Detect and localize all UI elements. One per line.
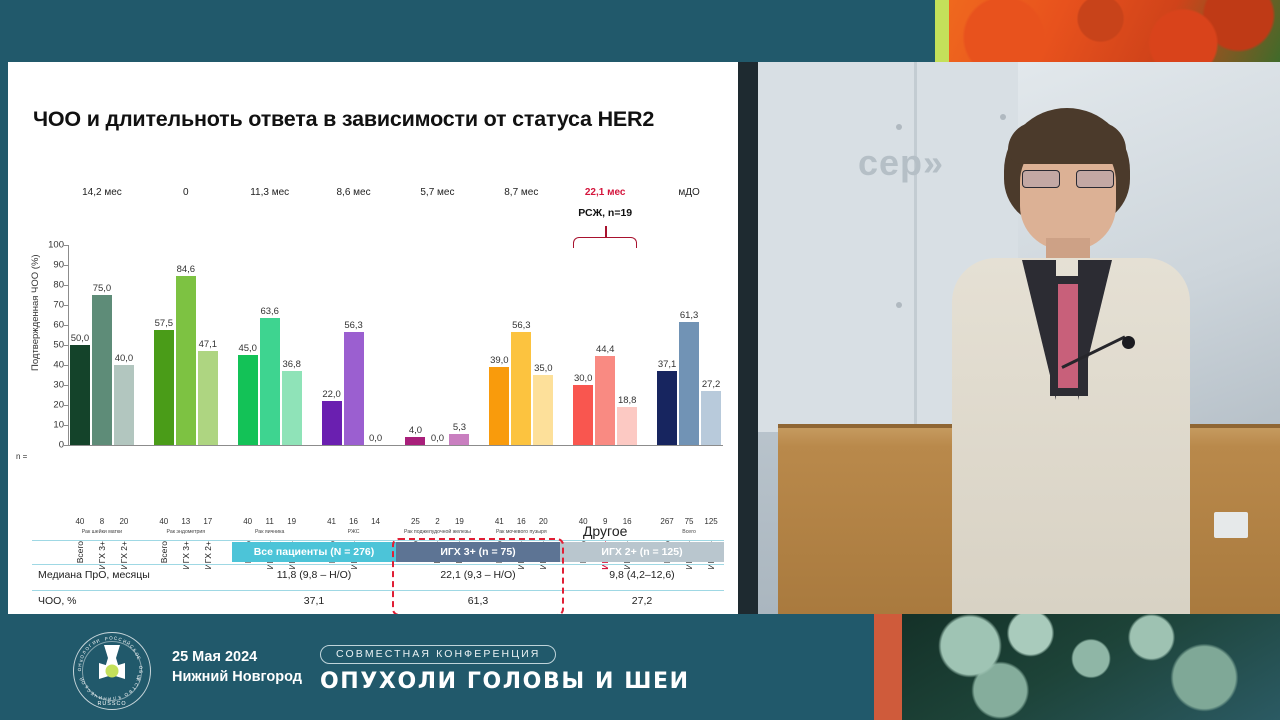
sample-size-value: 20 <box>533 517 553 526</box>
event-city: Нижний Новгород <box>172 668 302 688</box>
sample-size-value: 16 <box>617 517 637 526</box>
chart-group-header: 5,7 мес <box>404 187 472 198</box>
chart-bar: 4,0 <box>405 437 425 445</box>
wall-dark-edge <box>738 62 758 614</box>
screenshot-stage: ЧОО и длительноть ответа в зависимости о… <box>0 0 1280 720</box>
table-column-header[interactable]: ИГХ 2+ (n = 125) <box>560 542 724 562</box>
chart-bar: 47,1 <box>198 351 218 445</box>
bar-value-label: 18,8 <box>618 395 637 406</box>
bar-value-label: 57,5 <box>155 318 174 329</box>
bar-value-label: 39,0 <box>490 355 509 366</box>
sample-size-value: 125 <box>701 517 721 526</box>
y-tick-mark <box>64 325 68 326</box>
speaker-video: сер» <box>738 62 1280 614</box>
chart-group-header: 8,7 мес <box>487 187 555 198</box>
table-cell: 11,8 (9,8 – Н/О) <box>232 569 396 581</box>
y-tick-mark <box>64 405 68 406</box>
sample-size-value: 40 <box>573 517 593 526</box>
bar-value-label: 61,3 <box>680 310 699 321</box>
sample-size-value: 267 <box>657 517 677 526</box>
table-cell: 27,2 <box>560 595 724 607</box>
sample-size-value: 11 <box>260 517 280 526</box>
bar-value-label: 5,3 <box>453 422 466 433</box>
table-cell: 37,1 <box>232 595 396 607</box>
logo-ring-char: Р <box>105 635 109 640</box>
bar-value-label: 44,4 <box>596 344 615 355</box>
y-tick-label: 30 <box>53 380 64 391</box>
chart-bar: 57,5 <box>154 330 174 445</box>
chart-bar: 18,8 <box>617 407 637 445</box>
n-row-label: n = <box>16 452 27 461</box>
y-tick-label: 100 <box>48 240 64 251</box>
bar-value-label: 50,0 <box>71 333 90 344</box>
highlight-box <box>392 538 564 614</box>
event-date: 25 Мая 2024 <box>172 648 302 668</box>
sample-size-value: 40 <box>70 517 90 526</box>
bar-value-label: 84,6 <box>177 264 196 275</box>
tumor-type-label: Всего <box>649 529 729 536</box>
speaker-lapel-right <box>1078 260 1112 400</box>
y-tick-mark <box>64 305 68 306</box>
sample-size-value: 75 <box>679 517 699 526</box>
y-tick-label: 70 <box>53 300 64 311</box>
sample-size-value: 16 <box>344 517 364 526</box>
chart-bar: 37,1 <box>657 371 677 445</box>
table-row: Медиана ПрО, месяцы11,8 (9,8 – Н/О)22,1 … <box>32 565 724 590</box>
chart-bar: 63,6 <box>260 318 280 445</box>
chart-bar: 50,0 <box>70 345 90 445</box>
y-tick-mark <box>64 265 68 266</box>
tumor-type-label: Рак яичника <box>230 529 310 536</box>
y-tick-label: 40 <box>53 360 64 371</box>
chart-group-header: 8,6 мес <box>320 187 388 198</box>
conference-name: ОПУХОЛИ ГОЛОВЫ И ШЕИ <box>320 669 690 694</box>
microphone-icon <box>1122 336 1135 349</box>
page-title: ЧОО и длительноть ответа в зависимости о… <box>33 107 654 132</box>
annotation-brace-stem <box>605 226 607 237</box>
bar-value-label: 4,0 <box>409 425 422 436</box>
bar-value-label: 35,0 <box>534 363 553 374</box>
top-band <box>0 0 1280 62</box>
bar-value-label: 30,0 <box>574 373 593 384</box>
chart-group-header: 11,3 мес <box>236 187 304 198</box>
table-rule <box>32 540 724 541</box>
sample-size-value: 41 <box>489 517 509 526</box>
bar-value-label: 75,0 <box>93 283 112 294</box>
bar-value-label: 56,3 <box>344 320 363 331</box>
russco-logo: РОССИЙСКОЕ ОБЩЕСТВО КЛИНИЧЕСКОЙ ОНКОЛОГИ… <box>73 632 151 710</box>
chart-bar: 35,0 <box>533 375 553 445</box>
y-tick-label: 50 <box>53 340 64 351</box>
sample-size-value: 40 <box>238 517 258 526</box>
logo-ring-char: Б <box>138 670 143 673</box>
chart-bar: 5,3 <box>449 434 469 445</box>
sample-size-value: 17 <box>198 517 218 526</box>
sample-size-value: 9 <box>595 517 615 526</box>
chart-bar: 30,0 <box>573 385 593 445</box>
y-tick-label: 20 <box>53 400 64 411</box>
chart-bar: 56,3 <box>344 332 364 445</box>
chart-bar: 75,0 <box>92 295 112 445</box>
chart-group-header: мДО <box>655 187 723 198</box>
y-tick-mark <box>64 445 68 446</box>
annotation-label: РСЖ, n=19 <box>555 207 655 219</box>
logo-ring-char: О <box>77 668 82 672</box>
top-decorative-photo <box>935 0 1280 62</box>
wall-seam <box>914 62 917 434</box>
sample-size-value: 8 <box>92 517 112 526</box>
chart-group-header: 14,2 мес <box>68 187 136 198</box>
table-row-label: ЧОО, % <box>38 595 77 607</box>
sample-size-value: 25 <box>405 517 425 526</box>
table-row-label: Медиана ПрО, месяцы <box>38 569 150 581</box>
tumor-type-label: Рак эндометрия <box>146 529 226 536</box>
sample-size-value: 13 <box>176 517 196 526</box>
sample-size-value: 19 <box>282 517 302 526</box>
wall-dot <box>896 302 902 308</box>
conference-title-block: СОВМЕСТНАЯ КОНФЕРЕНЦИЯ ОПУХОЛИ ГОЛОВЫ И … <box>320 644 690 694</box>
bar-value-label: 0,0 <box>431 433 444 444</box>
logo-ring-char: О <box>109 635 113 640</box>
tumor-type-label: Рак поджелудочной железы <box>398 529 478 536</box>
speaker-scarf <box>1058 284 1080 388</box>
annotation-brace <box>573 237 637 248</box>
logo-ring-char: К <box>117 695 121 701</box>
x-axis-line <box>68 445 723 446</box>
logo-ring-char: Н <box>77 663 82 667</box>
bottom-decorative-photo <box>902 614 1280 720</box>
sample-size-value: 40 <box>154 517 174 526</box>
y-tick-mark <box>64 285 68 286</box>
chart-bar: 36,8 <box>282 371 302 445</box>
bar-chart: Подтвержденная ЧОО (%) n = 0102030405060… <box>34 180 726 535</box>
x-category-label: Всего <box>75 541 85 563</box>
y-tick-mark <box>64 385 68 386</box>
wall-dot <box>896 124 902 130</box>
table-column-header[interactable]: Все пациенты (N = 276) <box>232 542 396 562</box>
speaker <box>946 108 1196 614</box>
sample-size-value: 14 <box>366 517 386 526</box>
sample-size-value: 41 <box>322 517 342 526</box>
chart-bar: 84,6 <box>176 276 196 445</box>
sample-size-value: 19 <box>449 517 469 526</box>
y-tick-label: 60 <box>53 320 64 331</box>
tumor-type-label: Рак мочевого пузыря <box>481 529 561 536</box>
glasses-icon <box>1022 170 1114 186</box>
wall-outlet <box>1214 512 1248 538</box>
y-tick-mark <box>64 365 68 366</box>
bar-value-label: 36,8 <box>282 359 301 370</box>
y-tick-mark <box>64 245 68 246</box>
bar-value-label: 22,0 <box>322 389 341 400</box>
plot-area: 010203040506070809010014,2 месРак шейки … <box>68 245 723 445</box>
logo-ring-char: О <box>138 665 143 669</box>
presentation-slide: ЧОО и длительноть ответа в зависимости о… <box>8 62 738 614</box>
chart-group-header: 22,1 мес <box>571 187 639 198</box>
logo-ring-char: И <box>95 638 100 644</box>
chart-bar: 39,0 <box>489 367 509 445</box>
logo-ring-char: Е <box>136 656 142 661</box>
bar-value-label: 37,1 <box>658 359 677 370</box>
bar-value-label: 63,6 <box>260 306 279 317</box>
bar-value-label: 27,2 <box>702 379 721 390</box>
y-axis-label: Подтвержденная ЧОО (%) <box>30 218 44 408</box>
tumor-type-label: Рак шейки матки <box>62 529 142 536</box>
table-row: ЧОО, %37,161,327,2 <box>32 591 724 614</box>
chart-group-header: 0 <box>152 187 220 198</box>
chart-bar: 22,0 <box>322 401 342 445</box>
chart-bar: 45,0 <box>238 355 258 445</box>
chart-bar: 44,4 <box>595 356 615 445</box>
chart-bar: 40,0 <box>114 365 134 445</box>
y-tick-label: 80 <box>53 280 64 291</box>
y-tick-mark <box>64 345 68 346</box>
bar-value-label: 56,3 <box>512 320 531 331</box>
y-tick-label: 90 <box>53 260 64 271</box>
wall-text: сер» <box>858 142 944 184</box>
y-tick-label: 10 <box>53 420 64 431</box>
table-cell: 9,8 (4,2–12,6) <box>560 569 724 581</box>
x-category-label: Всего <box>159 541 169 563</box>
sample-size-value: 16 <box>511 517 531 526</box>
sample-size-value: 20 <box>114 517 134 526</box>
chart-bar: 27,2 <box>701 391 721 445</box>
speaker-hair-front <box>1008 122 1126 164</box>
y-tick-mark <box>64 425 68 426</box>
logo-center-dot <box>106 665 119 678</box>
sample-size-value: 2 <box>427 517 447 526</box>
chart-bar: 61,3 <box>679 322 699 445</box>
conference-pill: СОВМЕСТНАЯ КОНФЕРЕНЦИЯ <box>320 645 556 664</box>
bar-value-label: 45,0 <box>238 343 257 354</box>
speaker-lapel-left <box>1022 260 1056 400</box>
tumor-type-label: РЖС <box>314 529 394 536</box>
chart-bar: 56,3 <box>511 332 531 445</box>
bottom-orange-strip <box>874 614 902 720</box>
bar-value-label: 47,1 <box>199 339 218 350</box>
bar-value-label: 0,0 <box>369 433 382 444</box>
bar-value-label: 40,0 <box>115 353 134 364</box>
top-photo-green-edge <box>935 0 949 62</box>
logo-wordmark: RUSSCO <box>97 701 126 707</box>
event-date-block: 25 Мая 2024 Нижний Новгород <box>172 648 302 687</box>
